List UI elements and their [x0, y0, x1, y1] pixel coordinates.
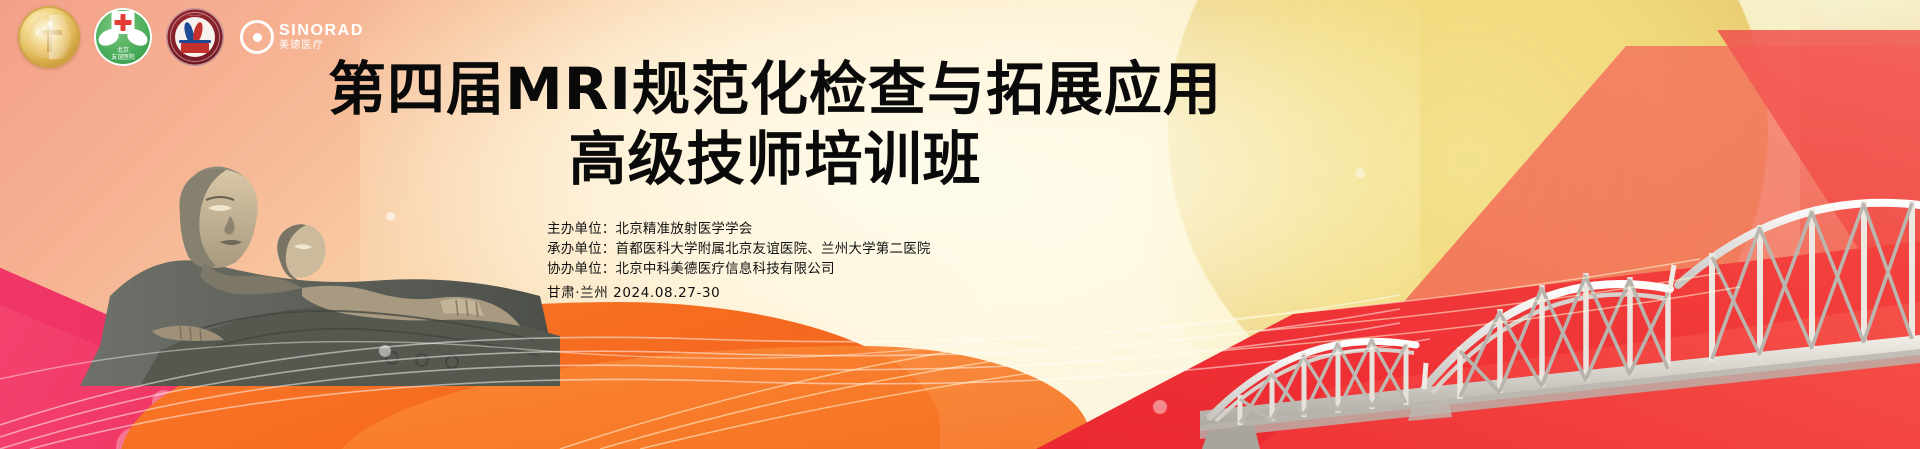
host-line: 承办单位：首都医科大学附属北京友谊医院、兰州大学第二医院 — [547, 239, 931, 259]
title-block: 第四届MRI规范化检查与拓展应用 高级技师培训班 — [270, 56, 1280, 192]
conference-banner: 北京 友谊医院 ········· SINORAD 美德医疗 第四届MRI规范化… — [0, 0, 1920, 449]
banner-title-line-2: 高级技师培训班 — [270, 126, 1280, 192]
sinorad-wordmark-en: SINORAD — [279, 23, 364, 39]
sinorad-wordmark-cn: 美德医疗 — [279, 41, 364, 51]
red-cross-icon — [115, 14, 132, 31]
sponsor-logo-row: 北京 友谊医院 ········· SINORAD 美德医疗 — [18, 6, 364, 68]
gold-medallion-logo[interactable] — [18, 6, 80, 68]
co-organizer-line: 协办单位：北京中科美德医疗信息科技有限公司 — [547, 259, 931, 279]
dove-icon — [96, 27, 120, 47]
date-location-line: 甘肃·兰州 2024.08.27-30 — [547, 283, 931, 303]
sinorad-ring-icon — [240, 20, 274, 54]
crest-gate-icon — [181, 43, 209, 53]
beijing-friendship-hospital-logo[interactable]: 北京 友谊医院 — [94, 8, 152, 66]
organizer-line: 主办单位：北京精准放射医学学会 — [547, 219, 931, 239]
hospital-logo-label: 北京 友谊医院 — [94, 47, 152, 61]
banner-title-line-1: 第四届MRI规范化检查与拓展应用 — [270, 56, 1280, 122]
zhongshan-bridge-illustration — [1200, 149, 1920, 449]
sinorad-logo[interactable]: SINORAD 美德医疗 — [240, 20, 364, 54]
credits-block: 主办单位：北京精准放射医学学会 承办单位：首都医科大学附属北京友谊医院、兰州大学… — [547, 219, 931, 303]
gold-cross-medallion-icon — [27, 15, 71, 59]
lanzhou-university-second-hospital-logo[interactable]: ········· — [166, 8, 224, 66]
dove-icon — [125, 27, 149, 47]
